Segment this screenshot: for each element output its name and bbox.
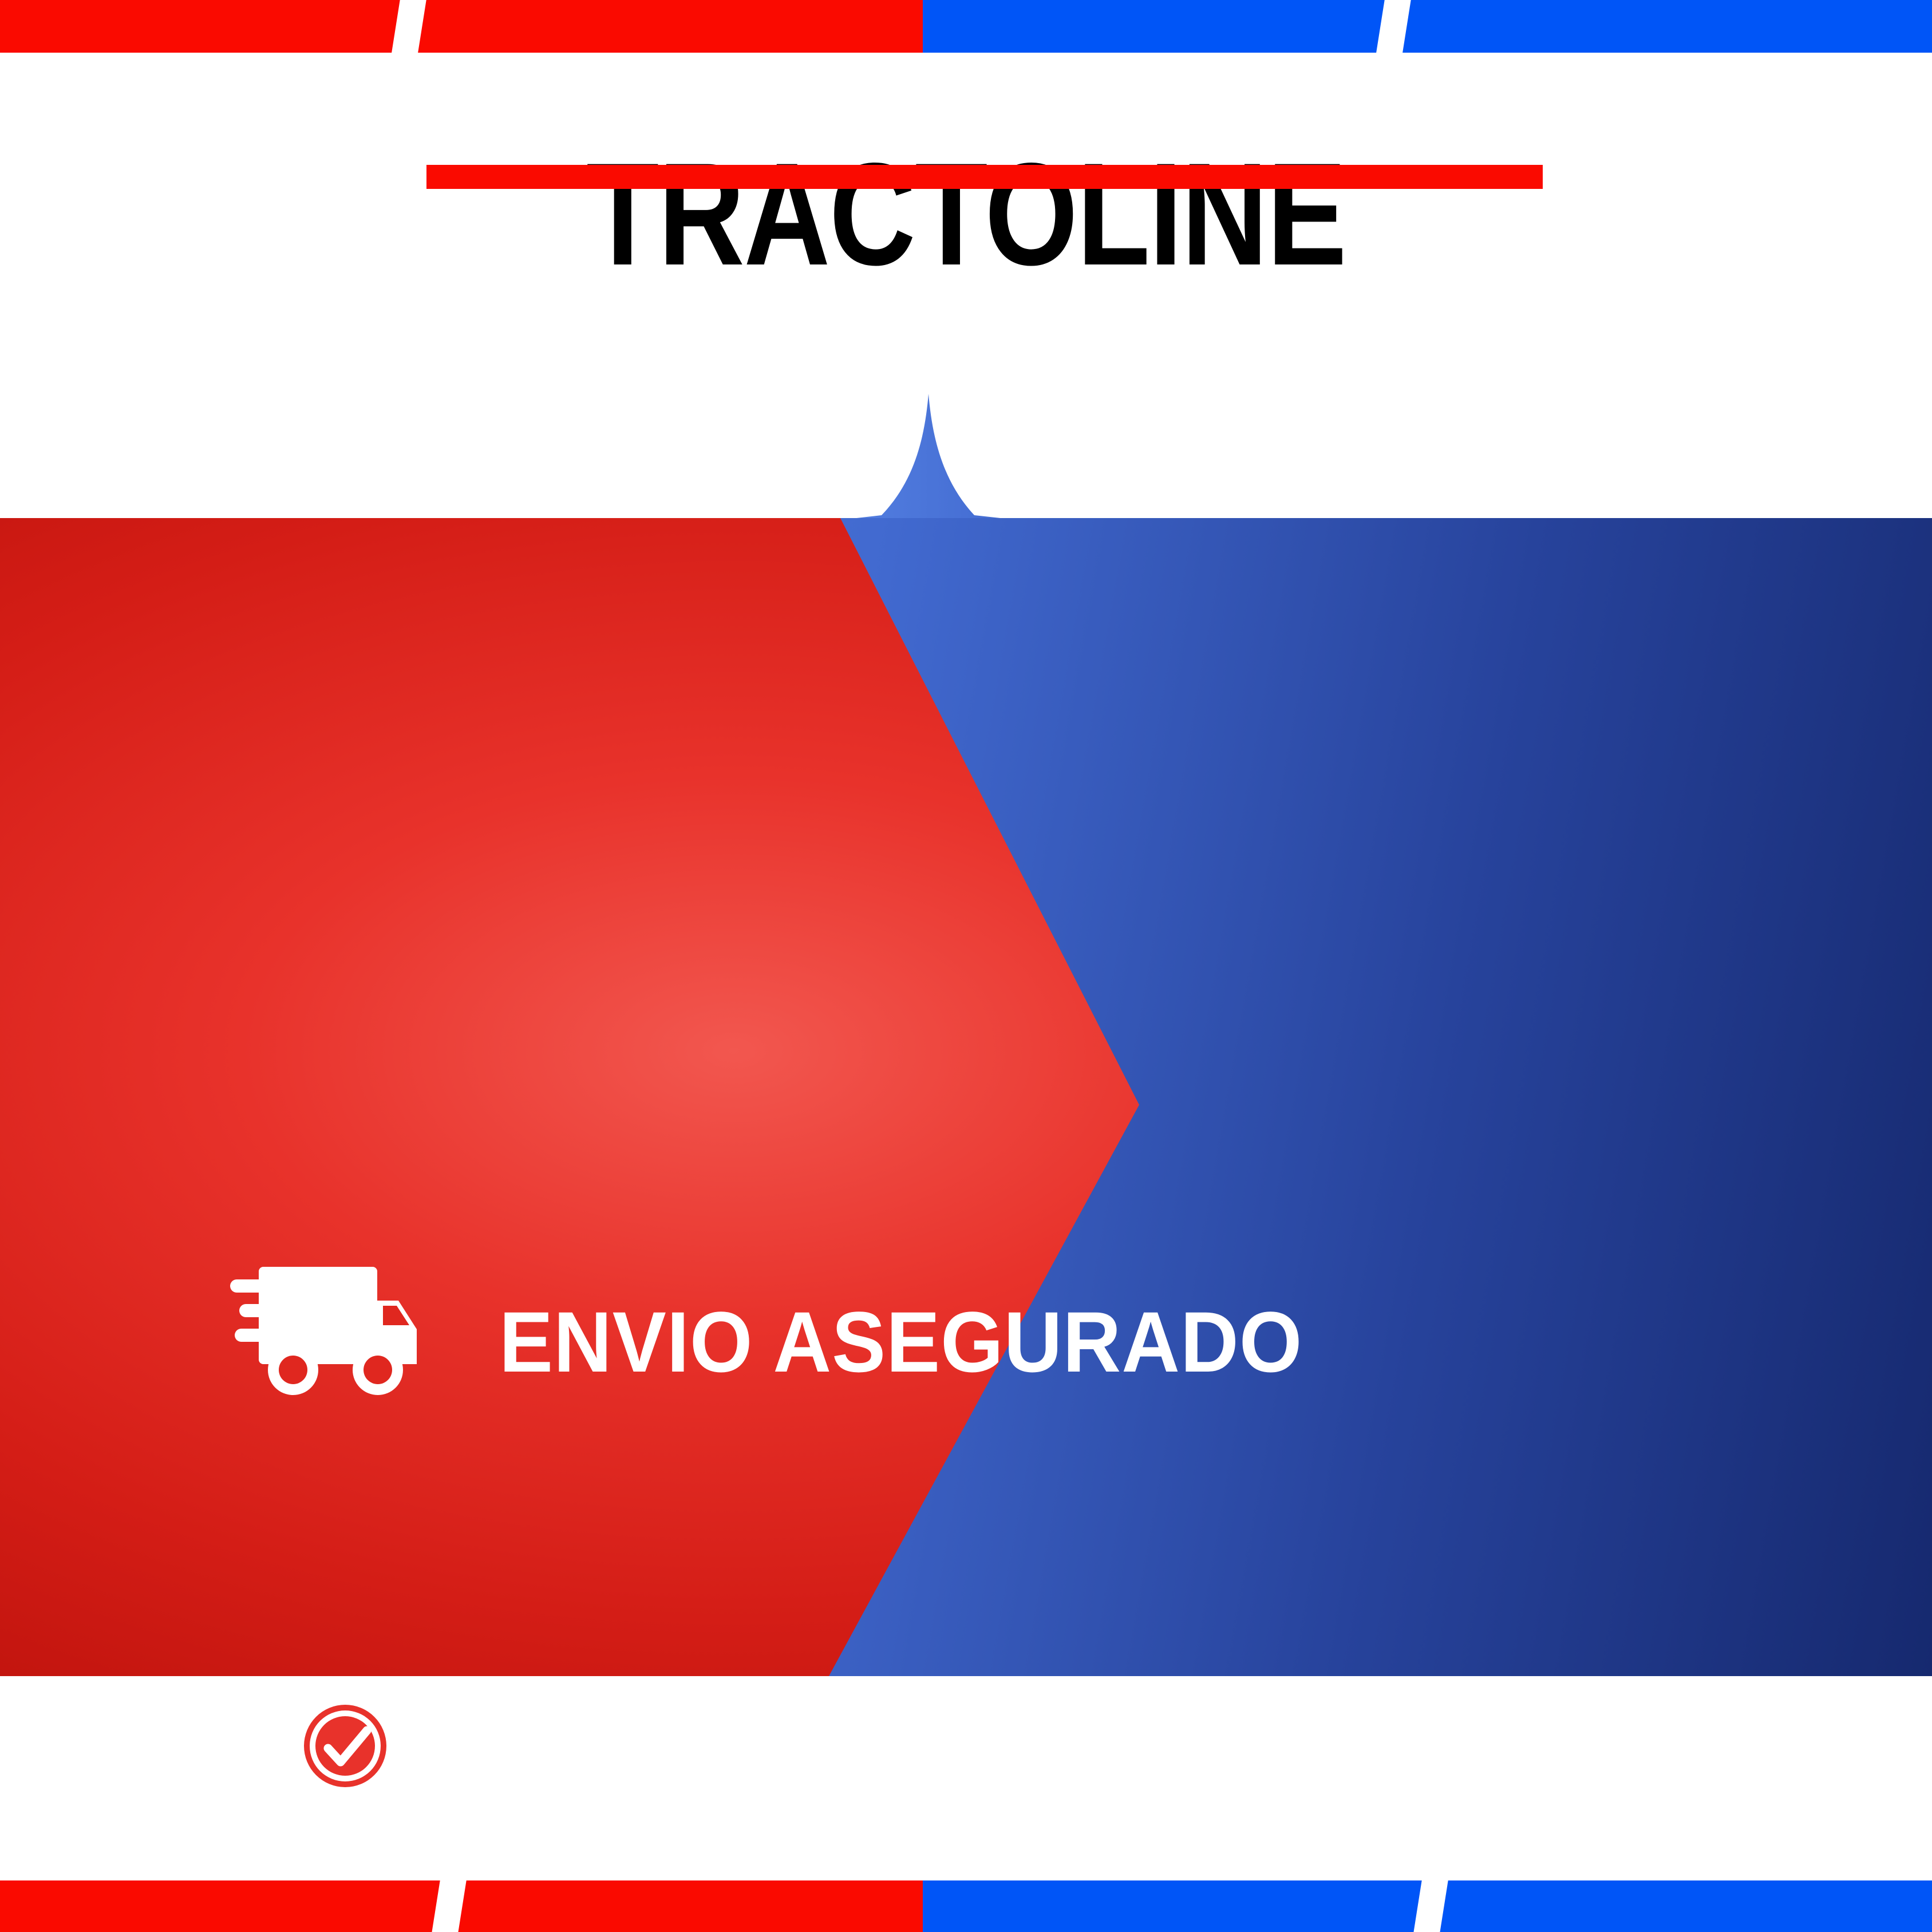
blue-spike-accent — [831, 394, 1026, 521]
feature-list: ENVIO ASEGURADO — [0, 618, 1932, 1500]
feature-item-servicio-profesional: SERVICIO PROFESIONAL — [0, 1059, 1932, 1279]
feature-item-envio-asegurado: ENVIO ASEGURADO — [0, 618, 1932, 839]
bottom-stripe-band — [0, 1880, 1932, 1932]
title-underline-rule — [426, 165, 1543, 189]
promo-banner: TRACTOLINE — [0, 0, 1932, 1932]
top-stripe-band — [0, 0, 1932, 53]
feature-item-productos-garantizados: PRODUCTOS GARANTIZADOS — [0, 1279, 1932, 1500]
award-ribbon-check-icon — [251, 1679, 440, 1862]
feature-label: EXCELENTE CALIDAD — [499, 1747, 1378, 1846]
top-stripe-blue-half — [923, 0, 1932, 53]
top-stripe-red-half — [0, 0, 923, 53]
feature-item-excelente-calidad: EXCELENTE CALIDAD — [0, 839, 1932, 1059]
